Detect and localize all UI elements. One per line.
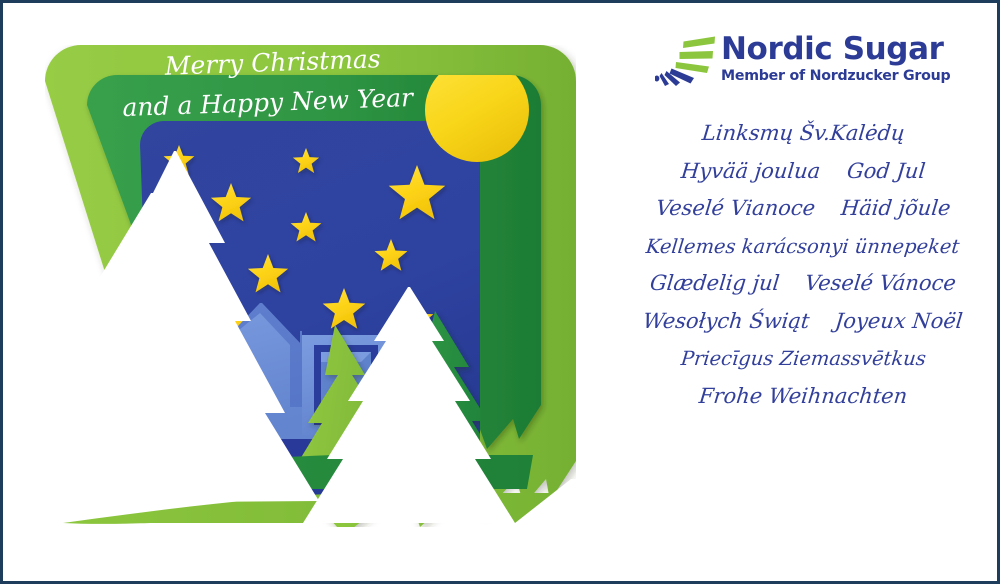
- greeting-row: Priecīgus Ziemassvētkus: [603, 340, 1000, 378]
- greeting-row: Wesołych Świąt Joyeux Noël: [603, 303, 1000, 341]
- nordic-sugar-logo: Nordic Sugar Member of Nordzucker Group: [655, 31, 985, 97]
- paper-cut-illustration: Merry Christmas and a Happy New Year: [3, 3, 603, 584]
- greeting-text: Linksmų Šv.Kalėdų: [700, 115, 907, 153]
- white-bottom-fill: [3, 527, 603, 584]
- greeting-text: Priecīgus Ziemassvētkus: [679, 340, 928, 378]
- sunburst-blue-rays: [655, 69, 694, 87]
- multilingual-greetings: Linksmų Šv.Kalėdų Hyvää joulua God Jul V…: [603, 115, 1000, 415]
- white-left-fill: [3, 3, 45, 584]
- white-right-fill: [576, 3, 603, 584]
- greeting-row: Veselé Vianoce Häid jõule: [603, 190, 1000, 228]
- greeting-text: Hyvää joulua: [679, 153, 822, 191]
- greeting-text: Veselé Vánoce: [803, 265, 958, 303]
- logo-tagline: Member of Nordzucker Group: [721, 67, 950, 85]
- greeting-row: Glædelig jul Veselé Vánoce: [603, 265, 1000, 303]
- greeting-text: Frohe Weihnachten: [697, 378, 909, 416]
- christmas-card: Merry Christmas and a Happy New Year: [0, 0, 1000, 584]
- nordic-sugar-sunburst-icon: [655, 35, 717, 91]
- greeting-row: Frohe Weihnachten: [603, 378, 1000, 416]
- sunburst-green-rays: [676, 37, 716, 74]
- greeting-text: Wesołych Świąt: [641, 303, 811, 341]
- logo-wordmark: Nordic Sugar Member of Nordzucker Group: [721, 31, 950, 85]
- white-top-fill: [3, 3, 603, 45]
- greeting-text: Kellemes karácsonyi ünnepeket: [644, 228, 961, 266]
- greeting-row: Linksmų Šv.Kalėdų: [603, 115, 1000, 153]
- message-panel: Nordic Sugar Member of Nordzucker Group …: [603, 3, 1000, 584]
- logo-company-name: Nordic Sugar: [721, 31, 950, 67]
- greeting-text: Häid jõule: [839, 190, 952, 228]
- greeting-text: Veselé Vianoce: [654, 190, 817, 228]
- greeting-text: Joyeux Noël: [833, 303, 965, 341]
- greeting-text: God Jul: [845, 153, 927, 191]
- greeting-row: Hyvää joulua God Jul: [603, 153, 1000, 191]
- greeting-text: Glædelig jul: [648, 265, 781, 303]
- greeting-row: Kellemes karácsonyi ünnepeket: [603, 228, 1000, 266]
